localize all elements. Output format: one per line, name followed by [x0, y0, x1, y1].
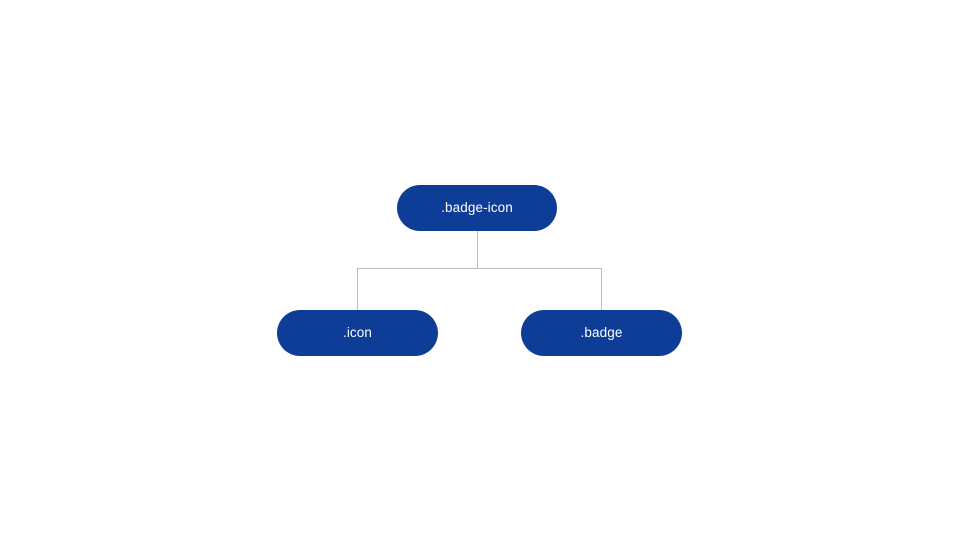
tree-node-badge[interactable]: .badge	[521, 310, 682, 356]
tree-node-icon[interactable]: .icon	[277, 310, 438, 356]
diagram-canvas: .badge-icon .icon .badge	[0, 0, 960, 540]
tree-node-label: .icon	[343, 326, 372, 340]
tree-node-root[interactable]: .badge-icon	[397, 185, 557, 231]
connector-layer	[0, 0, 960, 540]
tree-node-label: .badge-icon	[441, 201, 513, 215]
tree-node-label: .badge	[581, 326, 623, 340]
